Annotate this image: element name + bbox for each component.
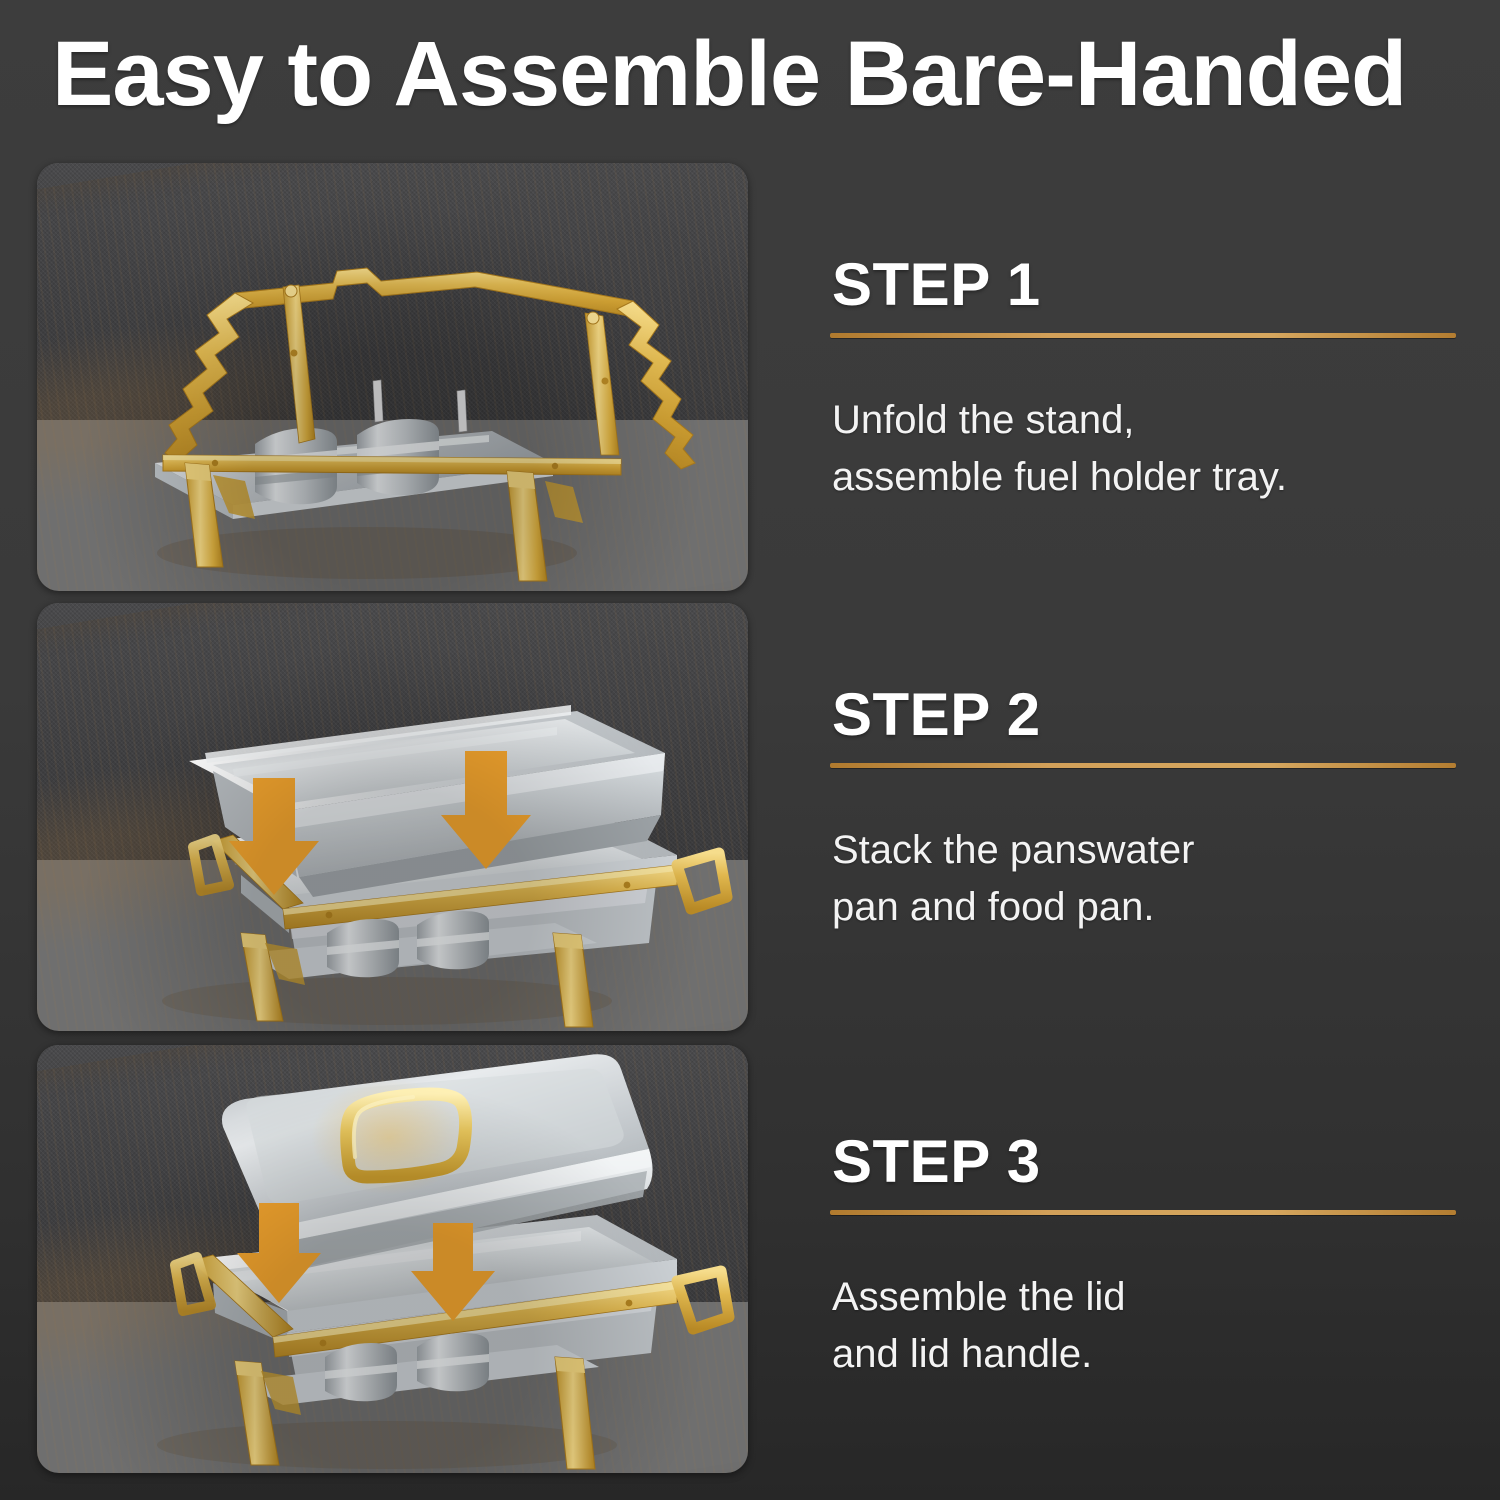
step-3-description: Assemble the lid and lid handle.	[832, 1269, 1458, 1383]
step-3-divider	[830, 1210, 1456, 1215]
scene-step-1	[37, 163, 748, 591]
step-2-description: Stack the panswater pan and food pan.	[832, 822, 1458, 936]
step-1-description: Unfold the stand, assemble fuel holder t…	[832, 392, 1458, 506]
panel-step-2-photo	[37, 603, 748, 1031]
stand-vertical-links	[283, 285, 619, 455]
product-pan-stack	[37, 603, 748, 1031]
scene-step-3	[37, 1045, 748, 1473]
step-3-heading: STEP 3	[832, 1132, 1458, 1192]
step-1-divider	[830, 333, 1456, 338]
product-lid-assembly	[37, 1045, 748, 1473]
fuel-can	[417, 911, 489, 969]
scene-step-2	[37, 603, 748, 1031]
infographic-page: Easy to Assemble Bare-Handed	[0, 0, 1500, 1500]
stand-lower-rail	[163, 455, 621, 475]
fuel-can	[325, 1343, 397, 1401]
step-block-2: STEP 2 Stack the panswater pan and food …	[830, 685, 1458, 936]
fuel-can	[327, 919, 399, 977]
page-title: Easy to Assemble Bare-Handed	[52, 26, 1472, 123]
step-block-1: STEP 1 Unfold the stand, assemble fuel h…	[830, 255, 1458, 506]
step-2-heading: STEP 2	[832, 685, 1458, 745]
fuel-can	[417, 1333, 489, 1391]
panel-step-3-photo	[37, 1045, 748, 1473]
step-block-3: STEP 3 Assemble the lid and lid handle.	[830, 1132, 1458, 1383]
product-stand-unfolded	[37, 163, 748, 591]
panel-step-1-photo	[37, 163, 748, 591]
step-2-divider	[830, 763, 1456, 768]
step-1-heading: STEP 1	[832, 255, 1458, 315]
